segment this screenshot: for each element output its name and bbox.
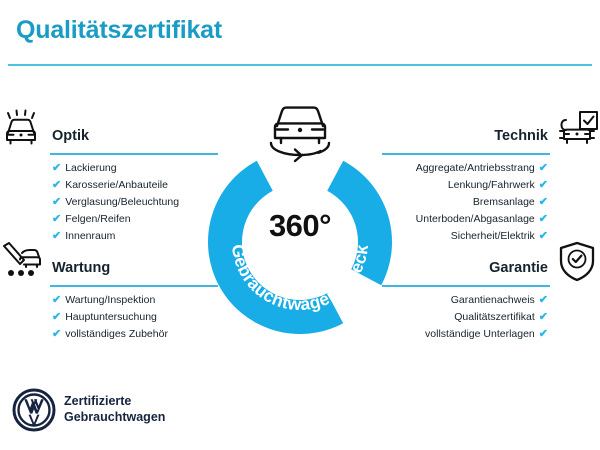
check-icon: ✔ bbox=[52, 179, 61, 191]
quality-certificate-page: Qualitätszertifikat bbox=[0, 0, 600, 450]
badge-center-label: 360° bbox=[195, 208, 405, 244]
list-item-label: Aggregate/Antriebsstrang bbox=[416, 162, 535, 174]
list-item: ✔Hauptuntersuchung bbox=[52, 309, 222, 326]
check-icon: ✔ bbox=[539, 162, 548, 174]
check-icon: ✔ bbox=[52, 196, 61, 208]
footer-line-1: Zertifizierte bbox=[64, 394, 131, 408]
footer-brand: Zertifizierte Gebrauchtwagen bbox=[12, 388, 272, 438]
check-icon: ✔ bbox=[539, 179, 548, 191]
section-technik: Technik Aggregate/Antriebsstrang✔ Lenkun… bbox=[380, 108, 600, 154]
section-garantie: Garantie Garantienachweis✔ Qualitätszert… bbox=[380, 240, 600, 286]
section-divider bbox=[50, 285, 218, 287]
list-item: Qualitätszertifikat✔ bbox=[378, 309, 548, 326]
list-item-label: Bremsanlage bbox=[473, 196, 535, 208]
vw-logo-icon bbox=[12, 388, 56, 432]
check-icon: ✔ bbox=[52, 294, 61, 306]
section-title: Technik bbox=[494, 128, 548, 144]
check-icon: ✔ bbox=[52, 328, 61, 340]
car-checkbox-icon bbox=[554, 108, 600, 154]
section-optik: Optik ✔Lackierung ✔Karosserie/Anbauteile… bbox=[0, 108, 220, 154]
list-item-label: Lenkung/Fahrwerk bbox=[448, 179, 535, 191]
section-divider bbox=[382, 285, 550, 287]
section-header: Technik bbox=[380, 108, 600, 154]
list-item: ✔vollständiges Zubehör bbox=[52, 326, 222, 343]
check-icon: ✔ bbox=[539, 294, 548, 306]
shield-check-icon bbox=[554, 240, 600, 286]
car-wrench-service-icon bbox=[0, 240, 46, 286]
list-item: vollständige Unterlagen✔ bbox=[378, 326, 548, 343]
section-header: Optik bbox=[0, 108, 220, 154]
footer-line-2: Gebrauchtwagen bbox=[64, 410, 165, 424]
section-header: Wartung bbox=[0, 240, 220, 286]
check-icon: ✔ bbox=[539, 196, 548, 208]
section-title: Garantie bbox=[489, 260, 548, 276]
list-item-label: Hauptuntersuchung bbox=[65, 311, 157, 323]
list-item-label: Verglasung/Beleuchtung bbox=[65, 196, 179, 208]
list-item-label: Qualitätszertifikat bbox=[454, 311, 535, 323]
section-wartung: Wartung ✔Wartung/Inspektion ✔Hauptunters… bbox=[0, 240, 220, 286]
list-item-label: Lackierung bbox=[65, 162, 116, 174]
footer-text: Zertifizierte Gebrauchtwagen bbox=[64, 393, 165, 425]
check-icon: ✔ bbox=[52, 311, 61, 323]
header-divider bbox=[8, 64, 592, 66]
check-icon: ✔ bbox=[52, 162, 61, 174]
list-item-label: vollständige Unterlagen bbox=[425, 328, 535, 340]
check-icon: ✔ bbox=[539, 213, 548, 225]
list-item-label: Felgen/Reifen bbox=[65, 213, 130, 225]
list-item-label: Unterboden/Abgasanlage bbox=[416, 213, 535, 225]
section-divider bbox=[382, 153, 550, 155]
section-title: Wartung bbox=[52, 260, 110, 276]
check-icon: ✔ bbox=[539, 328, 548, 340]
check-icon: ✔ bbox=[539, 311, 548, 323]
list-item-label: vollständiges Zubehör bbox=[65, 328, 168, 340]
list-item-label: Karosserie/Anbauteile bbox=[65, 179, 168, 191]
badge-360-gebrauchtwagen-check: Gebrauchtwagen-Check 360° bbox=[195, 100, 405, 300]
section-divider bbox=[50, 153, 218, 155]
check-icon: ✔ bbox=[52, 213, 61, 225]
section-header: Garantie bbox=[380, 240, 600, 286]
section-title: Optik bbox=[52, 128, 89, 144]
list-item-label: Garantienachweis bbox=[451, 294, 535, 306]
page-title: Qualitätszertifikat bbox=[16, 16, 222, 45]
list-item-label: Wartung/Inspektion bbox=[65, 294, 155, 306]
car-shine-icon bbox=[0, 108, 46, 154]
